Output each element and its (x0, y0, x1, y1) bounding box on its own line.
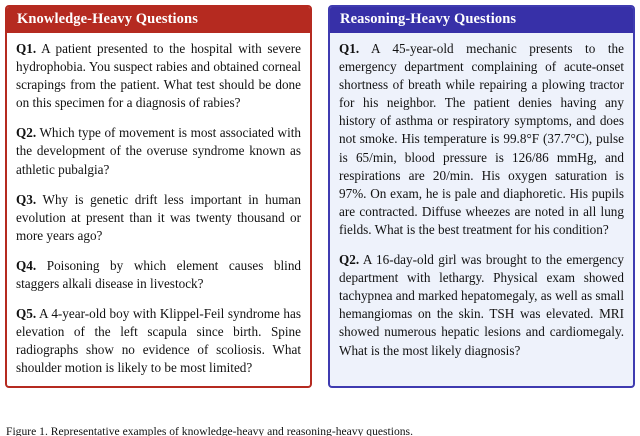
question-item: Q3. Why is genetic drift less important … (16, 191, 301, 245)
question-label: Q2. (339, 252, 359, 267)
question-label: Q3. (16, 192, 36, 207)
question-text: Why is genetic drift less important in h… (16, 192, 301, 243)
panel-knowledge-heavy: Knowledge-Heavy Questions Q1. A patient … (5, 5, 312, 388)
question-item: Q1. A 45-year-old mechanic presents to t… (339, 40, 624, 239)
figure-caption-label: Figure 1. (6, 425, 48, 436)
panel-reasoning-heavy-body: Q1. A 45-year-old mechanic presents to t… (330, 33, 633, 368)
question-label: Q1. (339, 41, 359, 56)
panels-row: Knowledge-Heavy Questions Q1. A patient … (0, 0, 640, 388)
question-label: Q4. (16, 258, 36, 273)
panel-knowledge-heavy-body: Q1. A patient presented to the hospital … (7, 33, 310, 386)
question-item: Q4. Poisoning by which element causes bl… (16, 257, 301, 293)
question-item: Q2. Which type of movement is most assoc… (16, 124, 301, 178)
question-text: Poisoning by which element causes blind … (16, 258, 301, 291)
question-item: Q1. A patient presented to the hospital … (16, 40, 301, 112)
question-text: A 4-year-old boy with Klippel-Feil syndr… (16, 306, 301, 375)
question-text: A 16-day-old girl was brought to the eme… (339, 252, 624, 357)
question-text: A patient presented to the hospital with… (16, 41, 301, 110)
figure-container: Knowledge-Heavy Questions Q1. A patient … (0, 0, 640, 436)
question-item: Q5. A 4-year-old boy with Klippel-Feil s… (16, 305, 301, 377)
question-text: Which type of movement is most associate… (16, 125, 301, 176)
question-text: A 45-year-old mechanic presents to the e… (339, 41, 624, 237)
figure-caption-text: Representative examples of knowledge-hea… (51, 425, 413, 436)
panel-reasoning-heavy: Reasoning-Heavy Questions Q1. A 45-year-… (328, 5, 635, 388)
question-item: Q2. A 16-day-old girl was brought to the… (339, 251, 624, 360)
figure-caption: Figure 1. Representative examples of kno… (6, 425, 634, 436)
question-label: Q1. (16, 41, 36, 56)
question-label: Q5. (16, 306, 36, 321)
question-label: Q2. (16, 125, 36, 140)
panel-knowledge-heavy-title: Knowledge-Heavy Questions (7, 7, 310, 33)
panel-reasoning-heavy-title: Reasoning-Heavy Questions (330, 7, 633, 33)
